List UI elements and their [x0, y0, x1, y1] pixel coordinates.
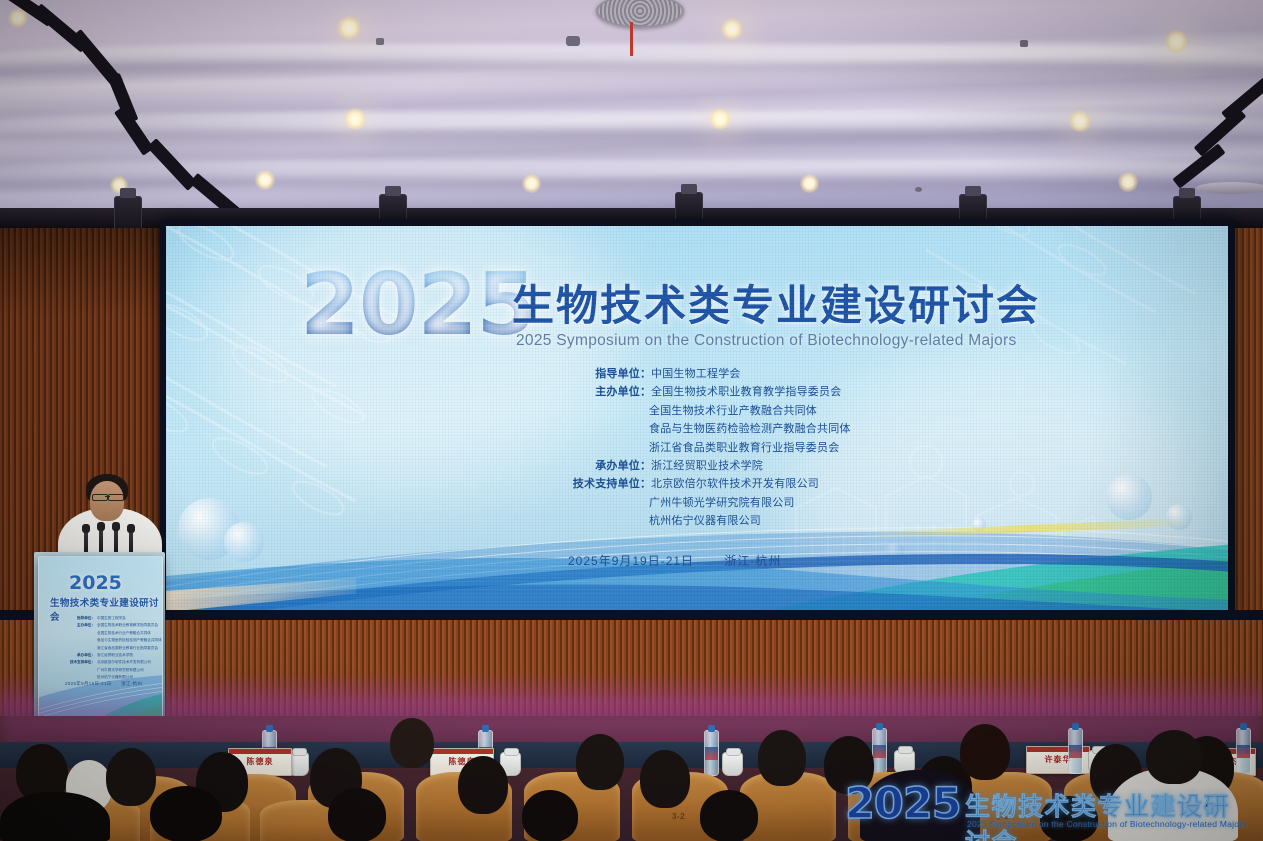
downlight-icon — [721, 18, 743, 40]
sprinkler-pipe-icon — [630, 22, 633, 56]
ceiling-sensor-icon — [1020, 40, 1028, 47]
organizer-value: 浙江省食品类职业教育行业指导委员会 — [649, 439, 851, 457]
podium-organizer-value: 全国生物技术职业教育教学指导委员会 — [97, 623, 158, 627]
screen-subtitle: 2025 Symposium on the Construction of Bi… — [516, 332, 1017, 350]
watermark-subtitle: 2025 Symposium on the Construction of Bi… — [967, 819, 1247, 829]
audience-head — [522, 790, 578, 841]
organizer-label: 指导单位 — [548, 365, 640, 383]
podium-organizer-row: 承办单位：浙江经贸职业技术学院 — [69, 652, 155, 659]
screen-year: 2025 — [300, 262, 535, 348]
name-card-banner — [229, 749, 291, 754]
water-bottle — [1068, 728, 1083, 774]
podium-organizer-value: 中国生物工程学会 — [97, 616, 126, 620]
podium-organizer-value: 广州牛顿光学研究院有限公司 — [97, 668, 144, 672]
downlight-icon — [1165, 30, 1188, 53]
watermark-title: 生物技术类专业建设研讨会 — [965, 787, 1255, 841]
organizer-colon: ： — [640, 475, 651, 493]
audience-shoulders — [0, 792, 110, 841]
screen-date: 2025年9月19日-21日 — [568, 554, 694, 568]
organizer-colon: ： — [640, 365, 651, 383]
podium-organizer-label: 承办单位： — [69, 652, 95, 659]
screen-location: 浙江·杭州 — [724, 554, 781, 568]
screen-date-location: 2025年9月19日-21日 浙江·杭州 — [568, 552, 781, 569]
podium-date: 2025年9月19日-21日 — [65, 681, 112, 686]
organizer-row: 指导单位：中国生物工程学会 — [548, 365, 851, 383]
audience-head — [106, 748, 156, 806]
led-screen: 2025 2025 生物技术类专业建设研讨会 2025 Symposium on… — [166, 226, 1228, 610]
audience-head — [576, 734, 624, 790]
downlight-icon — [1118, 172, 1138, 192]
organizer-colon: ： — [640, 383, 651, 401]
organizer-value: 中国生物工程学会 — [651, 365, 851, 383]
organizer-value: 全国生物技术职业教育教学指导委员会 — [651, 383, 851, 401]
organizer-value: 食品与生物医药检验检测产教融合共同体 — [649, 420, 851, 438]
organizer-row: 承办单位：浙江经贸职业技术学院 — [548, 457, 851, 475]
podium-organizer-value: 食品与生物医药检验检测产教融合共同体 — [97, 638, 162, 642]
podium-organizer-label: 技术支持单位： — [69, 659, 95, 666]
ceiling — [0, 0, 1263, 228]
eyeglasses-icon — [108, 494, 124, 501]
podium-organizer-value: 北京欧倍尔软件技术开发有限公司 — [97, 660, 151, 664]
ceiling-disc — [1196, 182, 1263, 194]
organizer-label: 主办单位 — [548, 383, 640, 401]
conference-photo: 2025 2025 生物技术类专业建设研讨会 2025 Symposium on… — [0, 0, 1263, 841]
audience-head — [1146, 730, 1202, 784]
organizer-value: 北京欧倍尔软件技术开发有限公司 — [651, 475, 851, 493]
podium-year: 2025 — [69, 572, 122, 594]
audience-head — [960, 724, 1010, 780]
podium-organizer-row: 技术支持单位：北京欧倍尔软件技术开发有限公司 — [69, 659, 155, 666]
podium-organizer-row: 食品与生物医药检验检测产教融合共同体 — [69, 637, 155, 644]
podium-organizer-value: 浙江省食品类职业教育行业指导委员会 — [97, 646, 158, 650]
organizer-row: 食品与生物医药检验检测产教融合共同体 — [548, 420, 851, 438]
stage-light-icon — [114, 196, 142, 232]
podium-organizer-row: 全国生物技术行业产教融合共同体 — [69, 630, 155, 637]
ceiling-cove — [0, 62, 1263, 80]
audience-head — [150, 786, 222, 841]
organizer-list: 指导单位：中国生物工程学会主办单位：全国生物技术职业教育教学指导委员会全国生物技… — [548, 365, 851, 531]
ceiling-speaker-icon — [566, 36, 580, 46]
organizer-colon: ： — [640, 457, 651, 475]
water-bottle — [872, 728, 887, 774]
audience-head — [758, 730, 806, 786]
watermark-logo: 2025 生物技术类专业建设研讨会 2025 Symposium on the … — [845, 783, 1255, 839]
podium-organizer-row: 浙江省食品类职业教育行业指导委员会 — [69, 645, 155, 652]
organizer-row: 全国生物技术行业产教融合共同体 — [548, 402, 851, 420]
downlight-icon — [709, 108, 731, 130]
seat-number: 3-2 — [672, 812, 685, 821]
organizer-value: 广州牛顿光学研究院有限公司 — [649, 494, 851, 512]
screen-main-title: 生物技术类专业建设研讨会 — [512, 272, 1040, 333]
podium-organizer-row: 指导单位：中国生物工程学会 — [69, 615, 155, 622]
organizer-label: 技术支持单位 — [548, 475, 640, 493]
speaker-head — [90, 481, 124, 521]
downlight-icon — [255, 170, 275, 190]
podium-organizer-row: 主办单位：全国生物技术职业教育教学指导委员会 — [69, 622, 155, 629]
ceiling-sensor-icon — [915, 187, 922, 192]
water-bottle — [1236, 728, 1251, 774]
podium-organizer-label: 指导单位： — [69, 615, 95, 622]
teacup — [722, 752, 743, 776]
podium-organizer-value: 浙江经贸职业技术学院 — [97, 653, 133, 657]
organizer-row: 主办单位：全国生物技术职业教育教学指导委员会 — [548, 383, 851, 401]
downlight-icon — [800, 174, 819, 193]
podium-organizer-label: 主办单位： — [69, 622, 95, 629]
podium-location: 浙江·杭州 — [121, 681, 142, 686]
podium-date-location: 2025年9月19日-21日 浙江·杭州 — [65, 681, 142, 687]
stage-edge-shadow — [0, 610, 1263, 620]
organizer-value: 浙江经贸职业技术学院 — [651, 457, 851, 475]
organizer-value: 杭州佑宁仪器有限公司 — [649, 512, 851, 530]
downlight-icon — [337, 16, 361, 40]
organizer-row: 技术支持单位：北京欧倍尔软件技术开发有限公司 — [548, 475, 851, 493]
wall-shadow — [0, 228, 168, 318]
water-bottle — [704, 730, 719, 776]
podium-organizer-row: 广州牛顿光学研究院有限公司 — [69, 667, 155, 674]
downlight-icon — [344, 108, 366, 130]
podium-organizer-list: 指导单位：中国生物工程学会主办单位：全国生物技术职业教育教学指导委员会全国生物技… — [69, 615, 155, 682]
podium-organizer-value: 全国生物技术行业产教融合共同体 — [97, 631, 151, 635]
organizer-row: 杭州佑宁仪器有限公司 — [548, 512, 851, 530]
ac-vent-icon — [596, 0, 684, 28]
audience-head — [700, 790, 758, 841]
name-card-banner — [431, 749, 493, 754]
organizer-label: 承办单位 — [548, 457, 640, 475]
eyeglasses-bridge — [105, 496, 110, 497]
podium-organizer-value: 杭州佑宁仪器有限公司 — [97, 675, 133, 679]
organizer-row: 浙江省食品类职业教育行业指导委员会 — [548, 439, 851, 457]
downlight-icon — [1069, 110, 1091, 132]
organizer-row: 广州牛顿光学研究院有限公司 — [548, 494, 851, 512]
audience-head — [640, 750, 690, 808]
audience-head — [390, 718, 434, 768]
watermark-year: 2025 — [845, 783, 961, 826]
organizer-value: 全国生物技术行业产教融合共同体 — [649, 402, 851, 420]
audience-head — [328, 788, 386, 841]
downlight-icon — [522, 174, 541, 193]
audience-head — [458, 756, 508, 814]
